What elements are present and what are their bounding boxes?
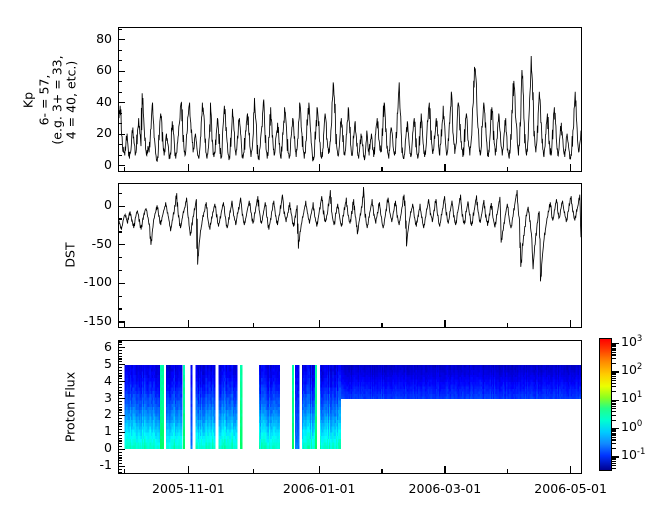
flux-y-tick-minor: [118, 440, 122, 441]
colorbar-tick-minor: [612, 352, 616, 353]
colorbar-tick-base: 10: [621, 447, 637, 462]
colorbar-tick-minor: [612, 348, 616, 349]
x-tick-major: [570, 320, 571, 328]
dst-y-tick-minor: [118, 270, 122, 271]
x-tick-major: [188, 466, 189, 474]
colorbar-tick-minor: [612, 448, 616, 449]
x-tick-minor: [253, 167, 254, 172]
colorbar-tick-minor: [612, 465, 616, 466]
colorbar-tick-label: 101: [621, 390, 642, 405]
kp-y-tick-label: 40: [60, 94, 112, 109]
kp-label-line-1: Kp: [21, 15, 36, 185]
flux-y-tick-minor: [118, 472, 122, 473]
colorbar-tick-minor: [612, 437, 616, 438]
flux-y-tick-minor: [118, 452, 122, 453]
kp-y-tick-minor: [118, 81, 122, 82]
flux-y-tick-minor: [118, 455, 122, 456]
colorbar-tick-base: 10: [621, 390, 637, 405]
colorbar-tick-minor: [612, 383, 616, 384]
colorbar-tick-exponent: 0: [637, 419, 642, 429]
colorbar-tick-minor: [612, 363, 616, 364]
kp-label-line-3: 6- = 57,: [37, 15, 52, 185]
flux-y-tick-label: 2: [60, 406, 112, 421]
dst-y-tick-label: -50: [60, 236, 112, 251]
colorbar-tick-exponent: 3: [637, 334, 642, 344]
flux-y-tick-minor: [118, 404, 122, 405]
colorbar-tick-label: 103: [621, 334, 642, 349]
kp-y-tick-minor: [118, 123, 122, 124]
dst-y-tick-minor: [118, 308, 122, 309]
flux-y-tick-label: 1: [60, 423, 112, 438]
x-tick-major: [570, 164, 571, 172]
kp-y-tick-minor: [118, 144, 122, 145]
flux-y-tick-major: [118, 449, 125, 450]
colorbar-tick-minor: [612, 468, 616, 469]
colorbar-tick-exponent: 1: [637, 390, 642, 400]
x-tick-minor: [124, 323, 125, 328]
flux-y-tick-minor: [118, 418, 122, 419]
x-tick-major: [188, 320, 189, 328]
dst-y-tick-minor: [118, 231, 122, 232]
kp-y-tick-minor: [118, 92, 122, 93]
x-axis-label: 2006-05-01: [516, 481, 626, 496]
x-tick-major: [319, 466, 320, 474]
flux-y-tick-minor: [118, 378, 122, 379]
kp-y-tick-minor: [118, 113, 122, 114]
flux-y-tick-major: [118, 347, 125, 348]
kp-y-tick-label: 20: [60, 125, 112, 140]
colorbar-tick-minor: [612, 374, 616, 375]
kp-y-tick-label: 60: [60, 62, 112, 77]
flux-y-tick-minor: [118, 341, 122, 342]
flux-y-tick-minor: [118, 412, 122, 413]
colorbar-tick-minor: [612, 459, 616, 460]
colorbar-tick-minor: [612, 429, 616, 430]
flux-y-tick-label: -1: [60, 457, 112, 472]
flux-y-tick-minor: [118, 429, 122, 430]
dst-y-tick-minor: [118, 257, 122, 258]
proton-flux-panel: [118, 340, 582, 474]
colorbar-tick-minor: [612, 420, 616, 421]
x-tick-minor: [507, 167, 508, 172]
colorbar-tick-minor: [612, 415, 616, 416]
flux-y-tick-major: [118, 381, 125, 382]
colorbar-tick-minor: [612, 406, 616, 407]
colorbar-tick-minor: [612, 408, 616, 409]
kp-y-tick-major: [118, 39, 125, 40]
colorbar-tick-minor: [612, 404, 616, 405]
colorbar-tick-minor: [612, 386, 616, 387]
dst-y-tick-major: [118, 206, 125, 207]
colorbar-tick-label: 100: [621, 419, 642, 434]
colorbar-tick-minor: [612, 403, 616, 404]
x-tick-minor: [381, 167, 382, 172]
colorbar-tick-minor: [612, 461, 616, 462]
flux-y-tick-minor: [118, 356, 122, 357]
flux-y-tick-minor: [118, 361, 122, 362]
colorbar-tick-minor: [612, 346, 616, 347]
dst-panel: [118, 183, 582, 328]
kp-y-tick-label: 80: [60, 31, 112, 46]
flux-y-tick-minor: [118, 353, 122, 354]
colorbar-tick-minor: [612, 349, 616, 350]
dst-y-tick-minor: [118, 296, 122, 297]
x-axis-label: 2006-03-01: [390, 481, 500, 496]
flux-y-tick-major: [118, 432, 125, 433]
dst-y-tick-label: -100: [60, 274, 112, 289]
x-tick-major: [444, 320, 445, 328]
colorbar-tick-minor: [612, 439, 616, 440]
flux-y-tick-label: 4: [60, 373, 112, 388]
kp-y-tick-major: [118, 71, 125, 72]
kp-y-tick-minor: [118, 155, 122, 156]
colorbar-tick-exponent: 2: [637, 362, 642, 372]
flux-y-tick-minor: [118, 421, 122, 422]
dst-y-tick-label: 0: [60, 197, 112, 212]
x-tick-major: [444, 466, 445, 474]
flux-y-tick-minor: [118, 409, 122, 410]
colorbar-tick-minor: [612, 401, 616, 402]
colorbar: [599, 338, 612, 471]
flux-y-tick-minor: [118, 457, 122, 458]
flux-y-tick-minor: [118, 387, 122, 388]
flux-y-tick-minor: [118, 350, 122, 351]
flux-y-tick-label: 5: [60, 356, 112, 371]
flux-y-tick-minor: [118, 395, 122, 396]
dst-series-plot: [119, 184, 581, 327]
flux-y-tick-minor: [118, 438, 122, 439]
x-tick-minor: [253, 469, 254, 474]
kp-y-tick-major: [118, 134, 125, 135]
x-tick-minor: [124, 167, 125, 172]
colorbar-tick-minor: [612, 358, 616, 359]
colorbar-tick-minor: [612, 380, 616, 381]
flux-y-tick-label: 3: [60, 390, 112, 405]
flux-y-tick-major: [118, 466, 125, 467]
kp-y-tick-minor: [118, 60, 122, 61]
flux-y-tick-major: [118, 415, 125, 416]
x-tick-major: [444, 164, 445, 172]
flux-y-tick-minor: [118, 435, 122, 436]
flux-y-tick-minor: [118, 460, 122, 461]
colorbar-tick-minor: [612, 434, 616, 435]
flux-y-tick-label: 6: [60, 339, 112, 354]
colorbar-tick-label: 102: [621, 362, 642, 377]
flux-y-tick-minor: [118, 390, 122, 391]
x-tick-major: [570, 466, 571, 474]
colorbar-tick-label: 10-1: [621, 447, 645, 462]
flux-y-tick-major: [118, 364, 125, 365]
flux-y-tick-major: [118, 398, 125, 399]
dst-y-tick-major: [118, 283, 125, 284]
flux-y-tick-minor: [118, 443, 122, 444]
flux-y-tick-minor: [118, 367, 122, 368]
colorbar-tick-minor: [612, 378, 616, 379]
flux-y-tick-minor: [118, 373, 122, 374]
flux-y-tick-minor: [118, 344, 122, 345]
flux-y-tick-minor: [118, 401, 122, 402]
flux-y-tick-minor: [118, 384, 122, 385]
kp-y-tick-minor: [118, 29, 122, 30]
flux-y-tick-label: 0: [60, 440, 112, 455]
flux-y-tick-minor: [118, 358, 122, 359]
flux-y-tick-minor: [118, 426, 122, 427]
colorbar-tick-minor: [612, 443, 616, 444]
dst-y-tick-major: [118, 244, 125, 245]
colorbar-tick-minor: [612, 373, 616, 374]
flux-y-tick-minor: [118, 446, 122, 447]
x-tick-minor: [124, 469, 125, 474]
figure-canvas: Kp (e.g. 3+ = 33, 6- = 57, 4 = 40, etc.)…: [0, 0, 665, 523]
flux-y-tick-minor: [118, 370, 122, 371]
colorbar-tick-minor: [612, 411, 616, 412]
kp-panel: [118, 27, 582, 172]
flux-y-tick-minor: [118, 375, 122, 376]
dst-y-tick-minor: [118, 218, 122, 219]
colorbar-tick-minor: [612, 391, 616, 392]
kp-y-tick-major: [118, 102, 125, 103]
x-tick-minor: [253, 323, 254, 328]
colorbar-tick-minor: [612, 354, 616, 355]
colorbar-tick-minor: [612, 376, 616, 377]
colorbar-tick-minor: [612, 433, 616, 434]
flux-y-tick-minor: [118, 463, 122, 464]
flux-y-tick-minor: [118, 392, 122, 393]
colorbar-tick-minor: [612, 463, 616, 464]
flux-y-tick-minor: [118, 423, 122, 424]
x-axis-label: 2006-01-01: [264, 481, 374, 496]
kp-series-plot: [119, 28, 581, 171]
x-tick-major: [319, 320, 320, 328]
colorbar-tick-minor: [612, 458, 616, 459]
colorbar-tick-minor: [612, 431, 616, 432]
x-axis-label: 2005-11-01: [133, 481, 243, 496]
kp-y-tick-minor: [118, 50, 122, 51]
colorbar-tick-base: 10: [621, 362, 637, 377]
x-tick-minor: [507, 323, 508, 328]
dst-y-tick-minor: [118, 193, 122, 194]
x-tick-minor: [381, 469, 382, 474]
colorbar-tick-minor: [612, 344, 616, 345]
x-tick-minor: [507, 469, 508, 474]
x-tick-minor: [381, 323, 382, 328]
colorbar-tick-exponent: -1: [637, 447, 645, 457]
colorbar-tick-base: 10: [621, 419, 637, 434]
flux-y-tick-minor: [118, 407, 122, 408]
colorbar-tick-base: 10: [621, 334, 637, 349]
proton-flux-spectrogram: [119, 341, 581, 473]
x-tick-major: [319, 164, 320, 172]
x-tick-major: [188, 164, 189, 172]
flux-y-tick-minor: [118, 469, 122, 470]
